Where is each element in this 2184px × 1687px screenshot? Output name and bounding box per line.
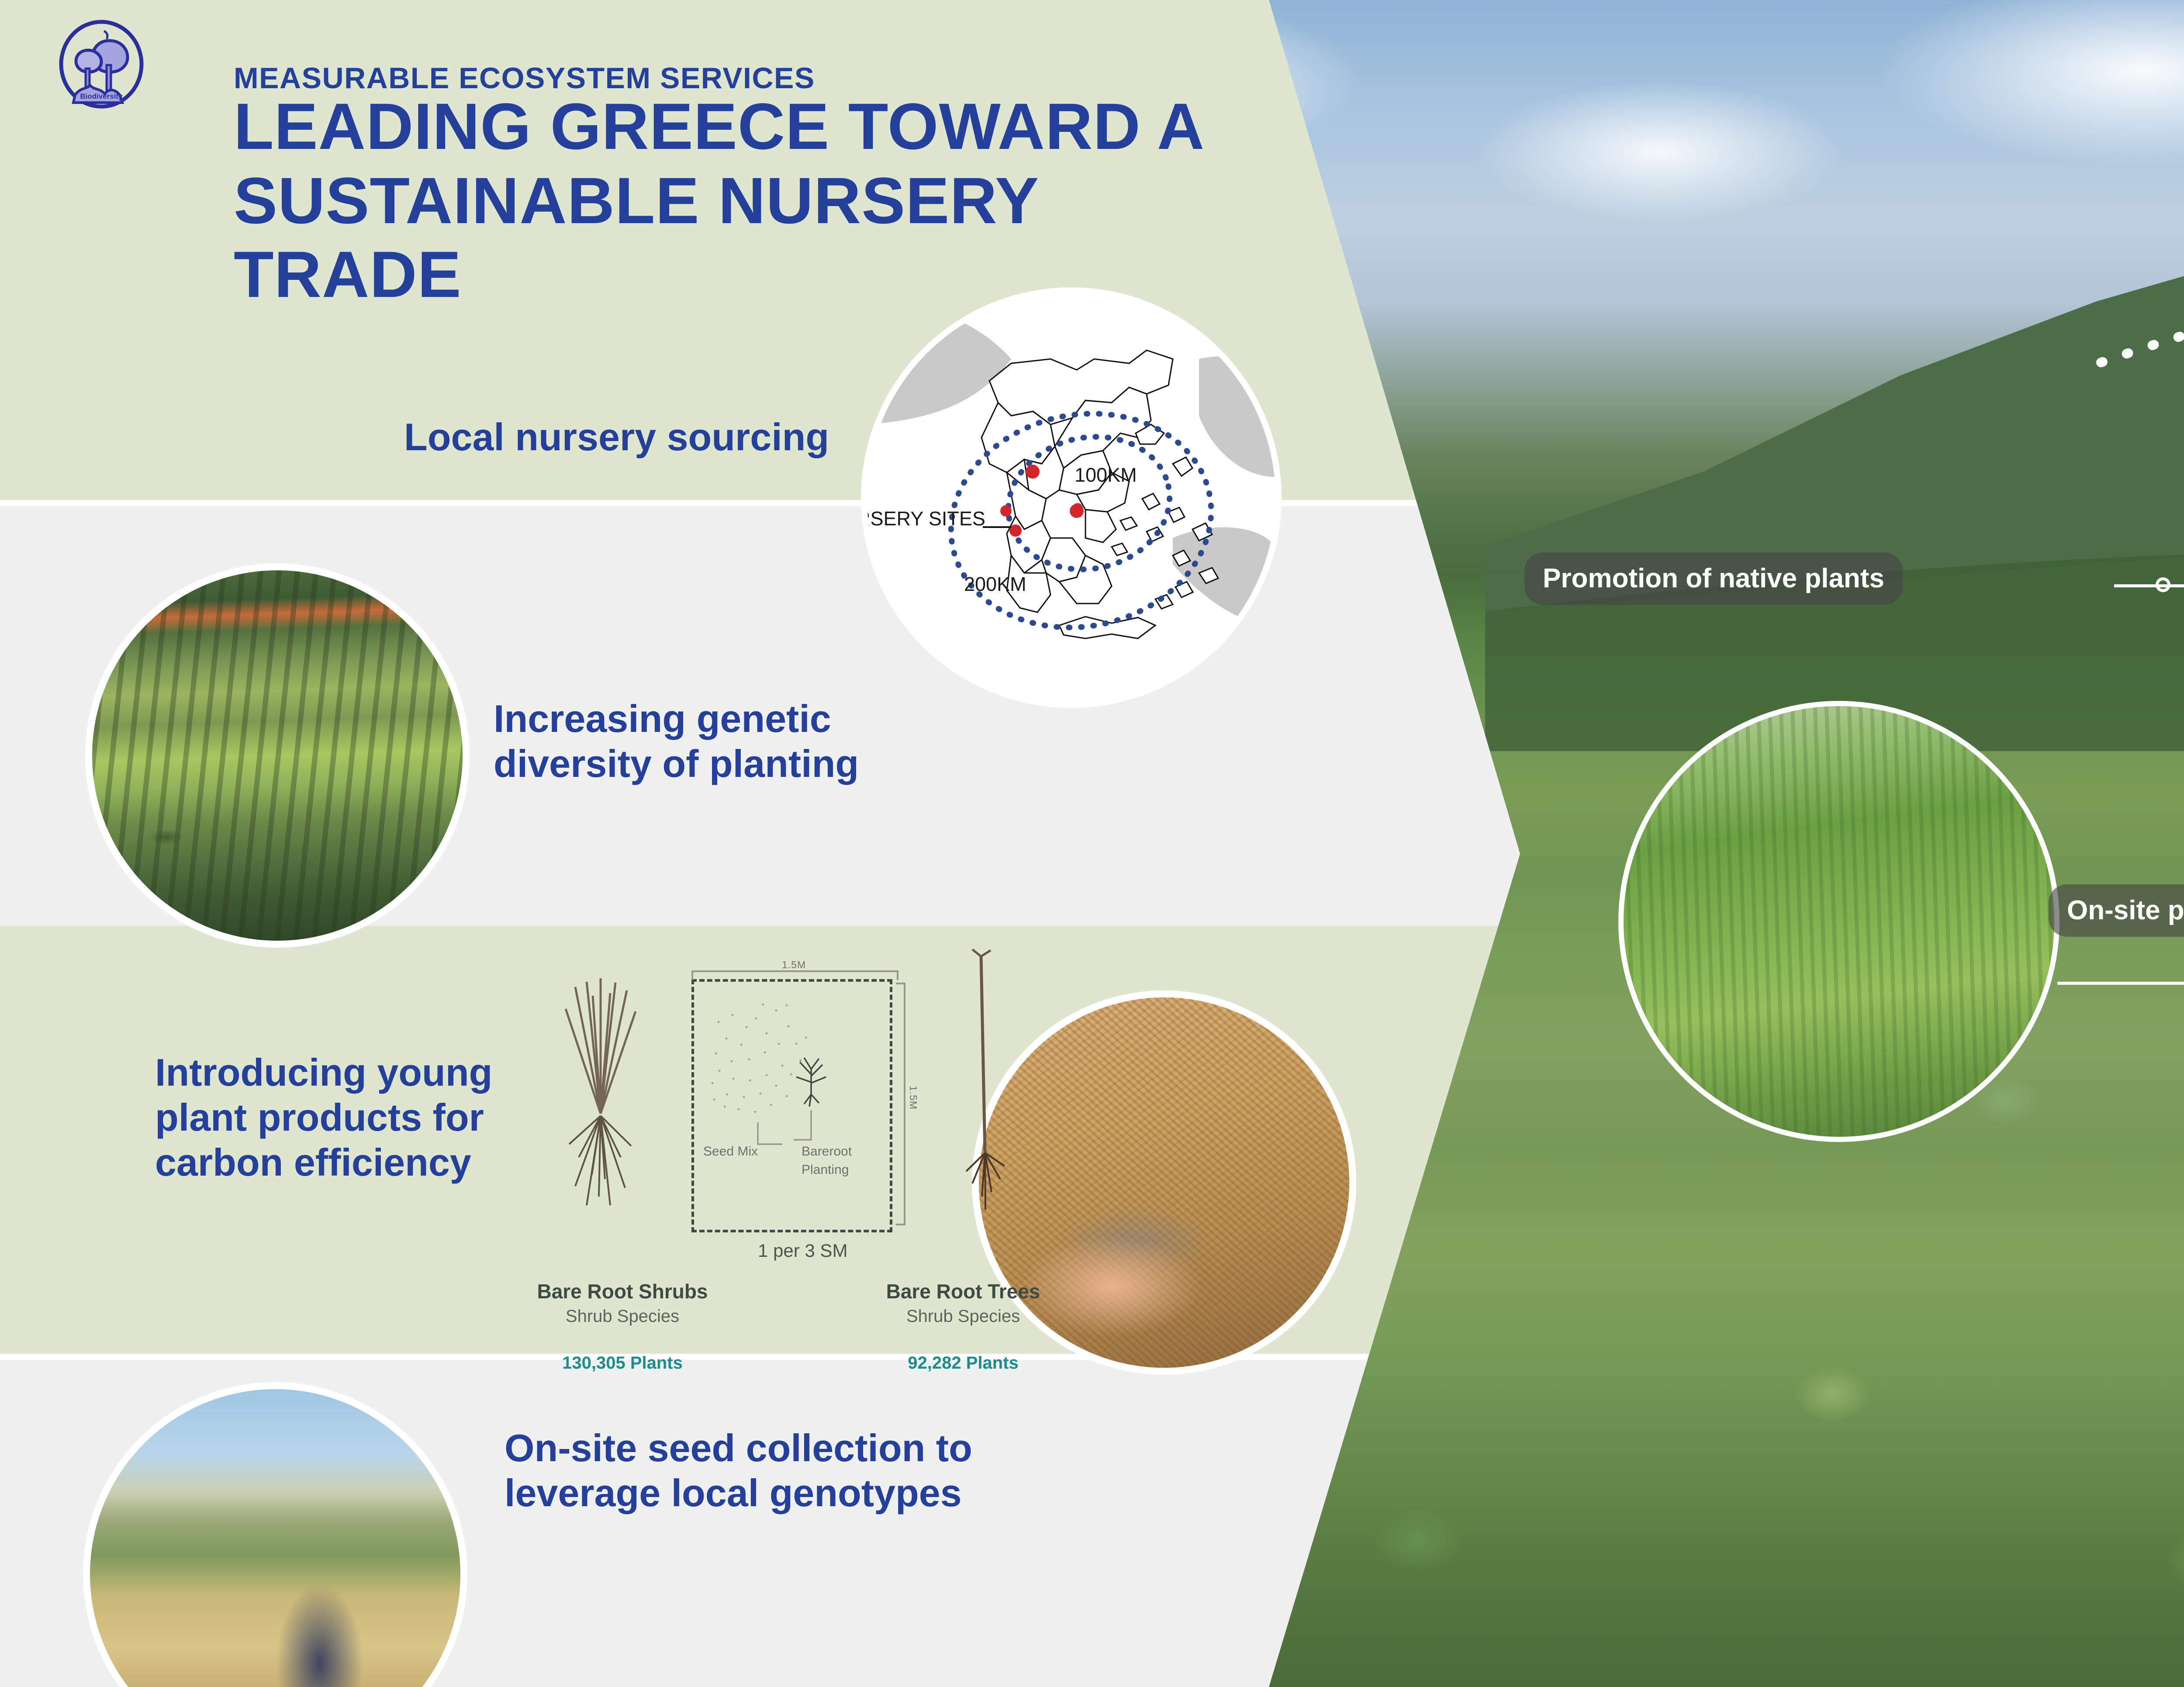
greece-nursery-sites-map: 100KM 200KM NURSERY SITES — [867, 293, 1275, 702]
left-content-panel: Biodiversity MEASURABLE ECOSYSTEM SERVIC… — [0, 0, 1520, 1687]
greece-map-svg — [867, 293, 1275, 702]
bare-root-tree-icon — [939, 948, 1031, 1245]
callout-promotion-of-native-plants[interactable]: Promotion of native plants — [1524, 552, 1903, 605]
infographic-poster: Integrated pest management Native and lo… — [0, 0, 2184, 1687]
band-separator-1 — [0, 500, 1520, 506]
bareroot-trees-subtitle: Shrub Species — [850, 1307, 1077, 1326]
bareroot-planting-diagram: 1.5M 1.5M — [531, 956, 1081, 1363]
bareroot-shrubs-caption: Bare Root Shrubs Shrub Species 130,305 P… — [509, 1280, 736, 1373]
headline-line-2: SUSTAINABLE NURSERY TRADE — [234, 164, 1282, 312]
biodiversity-logo-icon: Biodiversity — [57, 20, 146, 109]
dimension-right-label: 1.5M — [907, 1086, 919, 1110]
note-seed-mix: Seed Mix — [703, 1144, 758, 1159]
section-title-increasing-genetic-diversity: Increasing genetic diversity of planting — [494, 697, 930, 787]
callout-on-site-propagation[interactable]: On-site propagation — [2049, 884, 2184, 937]
section-title-on-site-seed-collection: On-site seed collection to leverage loca… — [505, 1426, 1072, 1516]
bareroot-shrubs-subtitle: Shrub Species — [509, 1307, 736, 1326]
section-title-local-nursery-sourcing: Local nursery sourcing — [404, 415, 829, 460]
bareroot-shrubs-count: 130,305 Plants — [509, 1353, 736, 1373]
map-label-200km: 200KM — [964, 573, 1026, 596]
bareroot-trees-caption: Bare Root Trees Shrub Species 92,282 Pla… — [850, 1280, 1077, 1373]
bareroot-trees-title: Bare Root Trees — [850, 1280, 1077, 1303]
map-label-nursery-sites: NURSERY SITES — [867, 507, 985, 530]
section-title-young-plant-products: Introducing young plant products for car… — [155, 1050, 570, 1185]
page-title: LEADING GREECE TOWARD A SUSTAINABLE NURS… — [234, 90, 1282, 312]
logo-caption: Biodiversity — [80, 92, 123, 100]
bareroot-trees-count: 92,282 Plants — [850, 1353, 1077, 1373]
map-label-100km: 100KM — [1075, 464, 1137, 486]
field-researcher-photo — [83, 1382, 467, 1687]
bare-root-shrub-icon — [535, 969, 666, 1240]
seedling-trays-photo — [85, 563, 470, 948]
bareroot-shrubs-title: Bare Root Shrubs — [509, 1280, 736, 1303]
note-bareroot-line2: Planting — [802, 1163, 849, 1177]
planting-density-label: 1 per 3 SM — [758, 1240, 847, 1261]
headline-line-1: LEADING GREECE TOWARD A — [234, 90, 1282, 164]
note-bareroot-line1: Bareroot — [802, 1144, 852, 1159]
